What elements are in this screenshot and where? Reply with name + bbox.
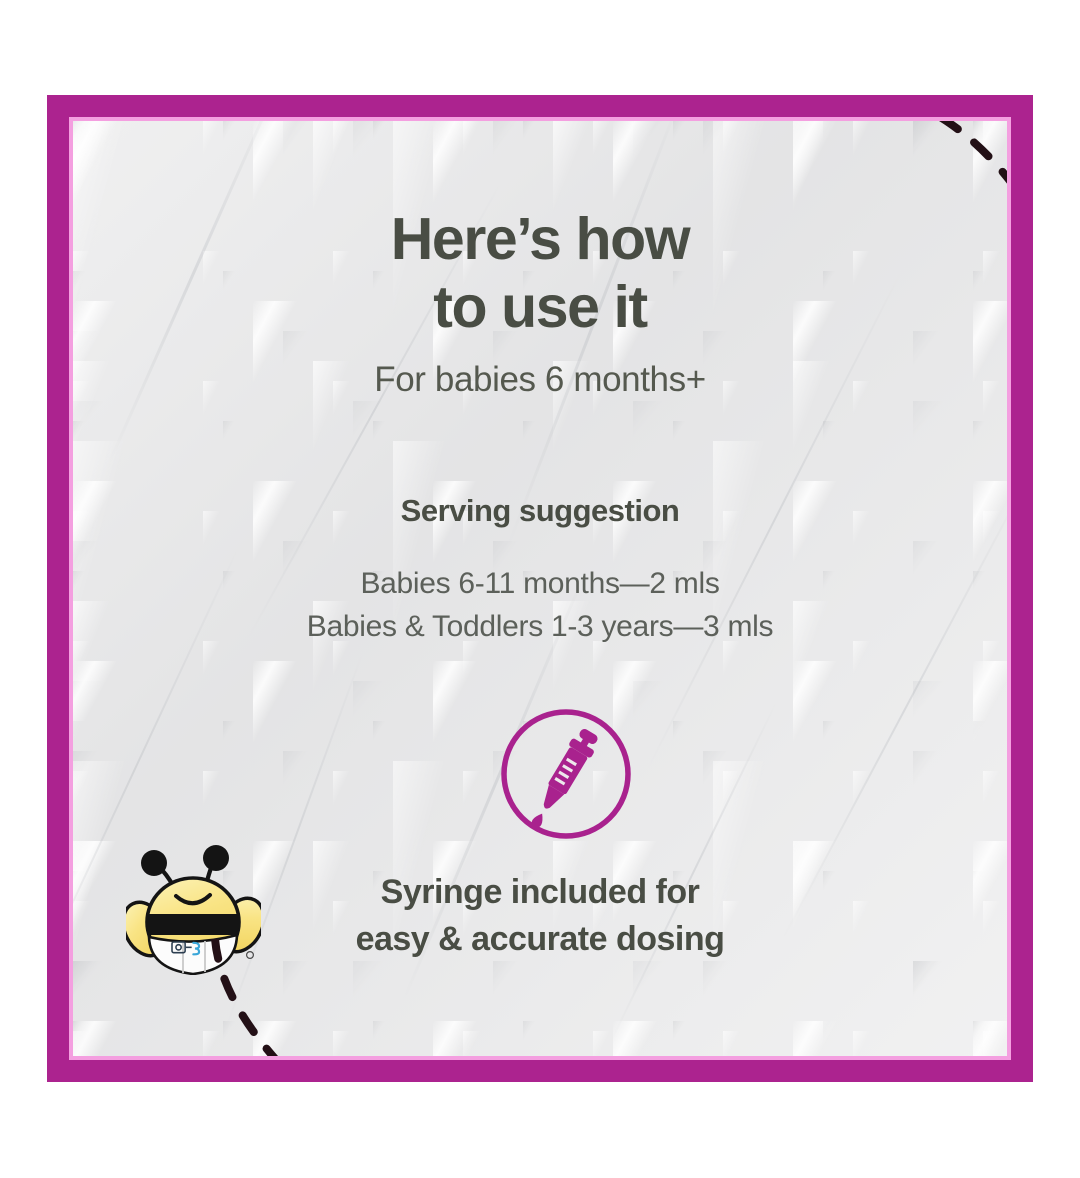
serving-suggestion-title: Serving suggestion [73, 493, 1007, 529]
product-info-card: Here’s how to use it For babies 6 months… [47, 95, 1033, 1082]
headline-line-1: Here’s how [73, 205, 1007, 273]
subheadline: For babies 6 months+ [73, 360, 1007, 400]
headline-line-2: to use it [73, 273, 1007, 341]
page-title: Here’s how to use it [73, 205, 1007, 342]
syringe-icon [500, 708, 632, 840]
bee-mascot-icon [126, 843, 261, 975]
dosing-line-2: Babies & Toddlers 1-3 years—3 mls [73, 606, 1007, 649]
dosing-list: Babies 6-11 months—2 mls Babies & Toddle… [73, 563, 1007, 649]
dosing-line-1: Babies 6-11 months—2 mls [73, 563, 1007, 606]
marble-background-panel: Here’s how to use it For babies 6 months… [73, 121, 1007, 1056]
